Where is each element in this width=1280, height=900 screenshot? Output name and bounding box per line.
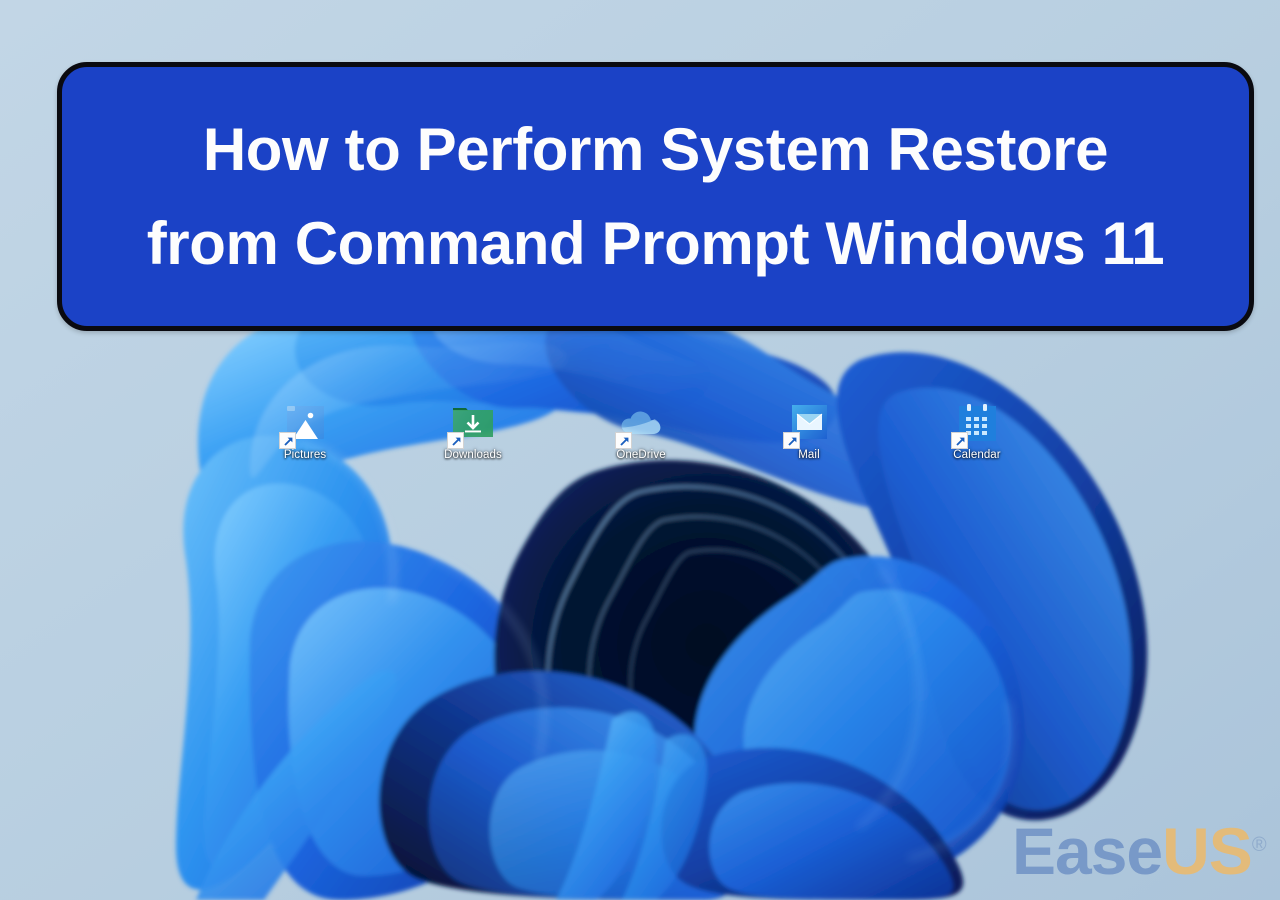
desktop-icon-pictures[interactable]: Pictures <box>257 402 353 462</box>
title-banner: How to Perform System Restore from Comma… <box>57 62 1254 331</box>
watermark-us-text: US <box>1162 814 1252 888</box>
calendar-icon <box>955 402 999 446</box>
registered-trademark-icon: ® <box>1252 834 1267 856</box>
easeus-watermark: EaseUS® <box>1012 818 1267 884</box>
shortcut-arrow-icon <box>615 432 632 449</box>
shortcut-arrow-icon <box>279 432 296 449</box>
desktop-icon-mail[interactable]: Mail <box>761 402 857 462</box>
desktop-icon-downloads[interactable]: Downloads <box>425 402 521 462</box>
desktop-icon-label: Calendar <box>929 449 1025 462</box>
desktop-icon-onedrive[interactable]: OneDrive <box>593 402 689 462</box>
onedrive-cloud-icon <box>619 402 663 446</box>
mail-envelope-icon <box>787 402 831 446</box>
pictures-folder-icon <box>283 402 327 446</box>
shortcut-arrow-icon <box>951 432 968 449</box>
desktop-icon-calendar[interactable]: Calendar <box>929 402 1025 462</box>
downloads-folder-icon <box>451 402 495 446</box>
desktop-icon-label: Mail <box>761 449 857 462</box>
banner-title-line-1: How to Perform System Restore <box>203 103 1108 197</box>
shortcut-arrow-icon <box>447 432 464 449</box>
desktop-icon-label: Downloads <box>425 449 521 462</box>
shortcut-arrow-icon <box>783 432 800 449</box>
watermark-ease-text: Ease <box>1012 814 1162 888</box>
banner-title-line-2: from Command Prompt Windows 11 <box>147 197 1165 291</box>
desktop-icon-label: Pictures <box>257 449 353 462</box>
desktop-icon-label: OneDrive <box>593 449 689 462</box>
